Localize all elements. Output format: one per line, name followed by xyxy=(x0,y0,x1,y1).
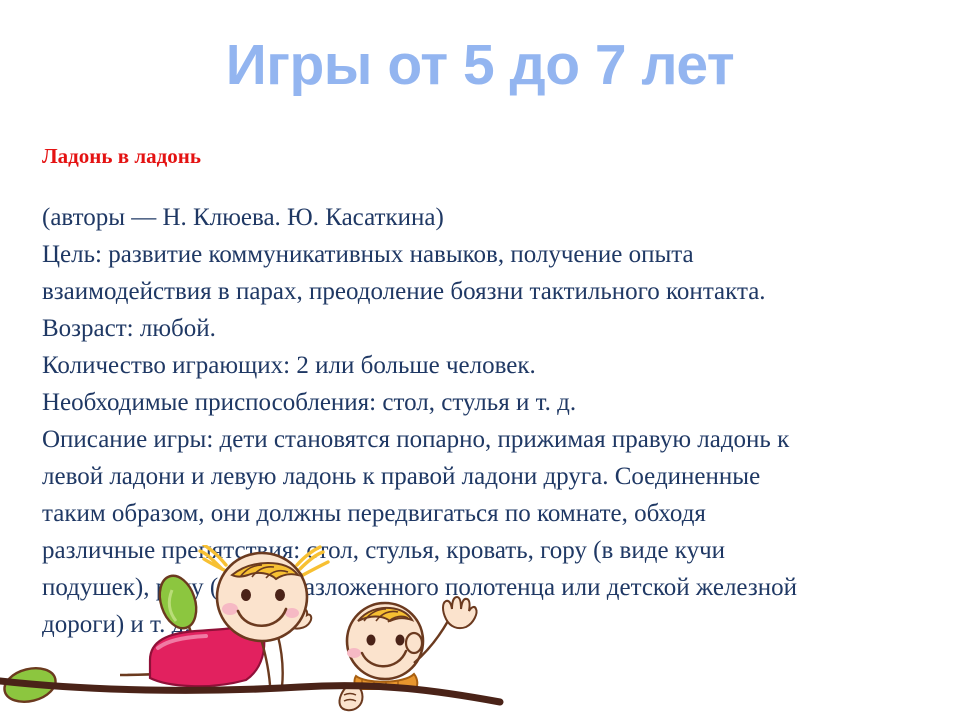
body-line: подушек), реку (в виде разложенного поло… xyxy=(42,569,922,606)
content-text-block: Ладонь в ладонь (авторы — Н. Клюева. Ю. … xyxy=(42,143,922,643)
body-line: левой ладони и левую ладонь к правой лад… xyxy=(42,458,922,495)
body-line: взаимодействия в парах, преодоление бояз… xyxy=(42,273,922,310)
body-line: Возраст: любой. xyxy=(42,310,922,347)
body-line: (авторы — Н. Клюева. Ю. Касаткина) xyxy=(42,199,922,236)
boy-shirt-icon xyxy=(355,674,418,689)
body-line: различные препятствия: стол, стулья, кро… xyxy=(42,532,922,569)
body-line: Цель: развитие коммуникативных навыков, … xyxy=(42,236,922,273)
body-line: Количество играющих: 2 или больше челове… xyxy=(42,347,922,384)
ground-line-icon xyxy=(0,681,500,702)
body-line: дороги) и т. д. xyxy=(42,606,922,643)
body-line: таким образом, они должны передвигаться … xyxy=(42,495,922,532)
boy-resting-hand-icon xyxy=(339,685,362,710)
body-line: Необходимые приспособления: стол, стулья… xyxy=(42,384,922,421)
page-title: Игры от 5 до 7 лет xyxy=(0,36,960,96)
game-name-heading: Ладонь в ладонь xyxy=(42,143,922,169)
presentation-slide: Игры от 5 до 7 лет Ладонь в ладонь (авто… xyxy=(0,0,960,720)
body-line: Описание игры: дети становятся попарно, … xyxy=(42,421,922,458)
